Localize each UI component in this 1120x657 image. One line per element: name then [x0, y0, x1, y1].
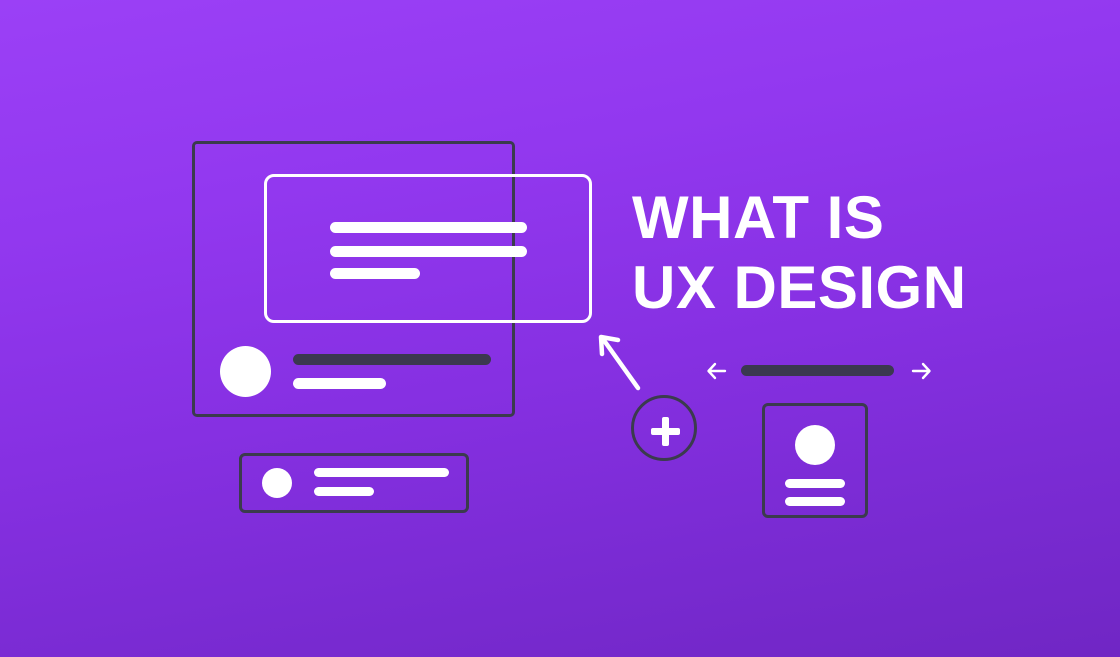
add-button[interactable]: [631, 395, 697, 461]
placeholder-line-light: [785, 497, 845, 506]
poster-canvas: WHAT IS UX DESIGN: [0, 0, 1120, 657]
placeholder-line-light: [314, 487, 374, 496]
placeholder-line-light: [330, 222, 527, 233]
plus-icon: [662, 417, 669, 446]
arrow-up-left-icon: [592, 330, 648, 394]
avatar: [262, 468, 292, 498]
avatar: [795, 425, 835, 465]
arrow-left-icon[interactable]: [704, 358, 730, 384]
carousel-track[interactable]: [741, 365, 894, 376]
placeholder-line-light: [785, 479, 845, 488]
page-title-line-1: WHAT IS: [632, 183, 967, 253]
arrow-right-icon[interactable]: [908, 358, 934, 384]
page-title: WHAT IS UX DESIGN: [632, 183, 967, 323]
placeholder-line-dark: [293, 354, 491, 365]
avatar: [220, 346, 271, 397]
placeholder-line-light: [314, 468, 449, 477]
placeholder-line-light: [330, 268, 420, 279]
page-title-line-2: UX DESIGN: [632, 253, 967, 323]
placeholder-line-light: [330, 246, 527, 257]
placeholder-line-light: [293, 378, 386, 389]
